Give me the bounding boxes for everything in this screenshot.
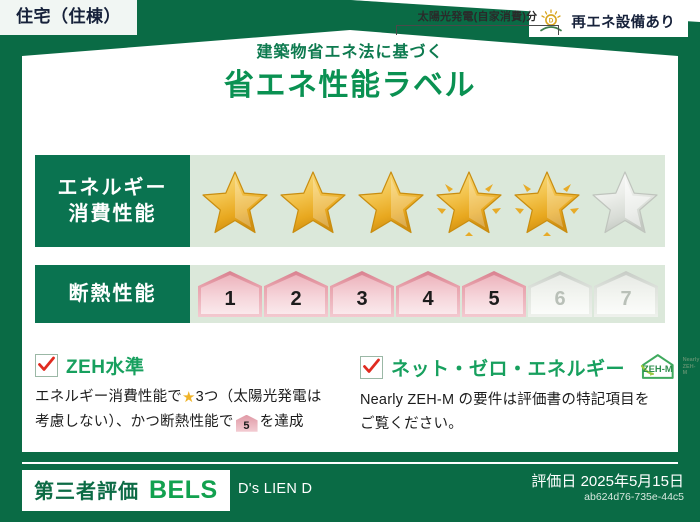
building-type-tag: 住宅（住棟） [0, 0, 137, 35]
insulation-chip-4: 4 [396, 271, 460, 317]
insulation-chip-3: 3 [330, 271, 394, 317]
star-3 [352, 155, 430, 247]
net-zero-energy-body: Nearly ZEH-M の要件は評価書の特記項目をご覧ください。 [360, 389, 660, 437]
chip-number: 6 [554, 288, 565, 311]
insulation-performance-label: 断熱性能 [35, 265, 190, 323]
insulation-grade-scale: 1234567 [190, 265, 665, 323]
net-zero-energy-title: ネット・ゼロ・エネルギー [391, 354, 625, 381]
energy-label-root: 住宅（住棟） D 再エネ設備あり 建築物省エネ法に基づく 省エネ性能ラベル [0, 0, 700, 522]
chip-number: 3 [356, 288, 367, 311]
zeh-m-logo-sub: Nearly ZEH-M [683, 357, 700, 378]
star-glyph [589, 166, 661, 236]
inline-grade-chip: 5 [236, 415, 258, 432]
energy-label-line1: エネルギー [58, 175, 168, 201]
zeh-standard-title: ZEH水準 [66, 352, 145, 379]
renewable-badge-label: 再エネ設備あり [571, 11, 675, 32]
net-zero-energy-block: ネット・ゼロ・エネルギー ZEH-M Nearly ZEH-M Nearly Z… [360, 352, 660, 437]
zeh-body-part1: エネルギー消費性能で [35, 389, 182, 405]
zeh-m-sub-line1: Nearly [683, 357, 700, 363]
star-6 [586, 155, 664, 247]
chip-number: 7 [620, 288, 631, 311]
zeh-m-logo: ZEH-M Nearly ZEH-M [637, 352, 700, 382]
chip-number: 2 [290, 288, 301, 311]
insulation-performance-row: 断熱性能 1234567 [35, 265, 665, 323]
pv-bracket-line [396, 25, 559, 35]
star-1 [196, 155, 274, 247]
label-subtitle: 建築物省エネ法に基づく [0, 38, 700, 62]
star-5 [508, 155, 586, 247]
check-icon [360, 356, 383, 379]
star-glyph [199, 166, 271, 236]
chip-number: 1 [224, 288, 235, 311]
evaluation-date: 評価日 2025年5月15日 [531, 470, 684, 491]
inline-star-icon: ★ [182, 389, 196, 406]
energy-performance-label: エネルギー 消費性能 [35, 155, 190, 247]
star-glyph [355, 166, 427, 236]
third-party-eval-label: 第三者評価 [34, 475, 139, 504]
evaluation-id: ab624d76-735e-44c5 [584, 491, 684, 503]
insulation-chip-2: 2 [264, 271, 328, 317]
bels-logo-text: BELS [149, 476, 218, 505]
zeh-standard-block: ZEH水準 エネルギー消費性能で★3つ（太陽光発電は考慮しない）、かつ断熱性能で… [35, 352, 335, 435]
star-glyph [277, 166, 349, 236]
energy-stars-area [190, 155, 665, 247]
zeh-body-part3: を達成 [260, 414, 304, 430]
pv-self-consumption-bracket: 太陽光発電(自家消費)分 [396, 8, 559, 35]
building-name: D's LIEN D [238, 481, 312, 497]
insulation-chip-6: 6 [528, 271, 592, 317]
zeh-m-sub-line2: ZEH-M [683, 364, 696, 377]
net-zero-energy-header: ネット・ゼロ・エネルギー ZEH-M Nearly ZEH-M [360, 352, 660, 382]
star-rating [190, 155, 665, 247]
energy-performance-row: エネルギー 消費性能 [35, 155, 665, 247]
zeh-standard-header: ZEH水準 [35, 352, 335, 379]
energy-label-line2: 消費性能 [69, 201, 157, 227]
label-title: 省エネ性能ラベル [0, 60, 700, 104]
star-2 [274, 155, 352, 247]
bels-certification-chip: 第三者評価 BELS [22, 470, 230, 511]
star-glyph [433, 166, 505, 236]
check-icon [35, 354, 58, 377]
zeh-standard-body: エネルギー消費性能で★3つ（太陽光発電は考慮しない）、かつ断熱性能で5を達成 [35, 386, 335, 435]
star-glyph [511, 166, 583, 236]
insulation-label-text: 断熱性能 [69, 281, 157, 307]
insulation-grade-area: 1234567 [190, 265, 665, 323]
chip-number: 4 [422, 288, 433, 311]
insulation-chip-1: 1 [198, 271, 262, 317]
star-4 [430, 155, 508, 247]
insulation-chip-7: 7 [594, 271, 658, 317]
pv-bracket-caption: 太陽光発電(自家消費)分 [396, 8, 559, 24]
chip-number: 5 [488, 288, 499, 311]
svg-text:ZEH-M: ZEH-M [643, 363, 673, 374]
insulation-chip-5: 5 [462, 271, 526, 317]
footer-divider [22, 462, 678, 464]
